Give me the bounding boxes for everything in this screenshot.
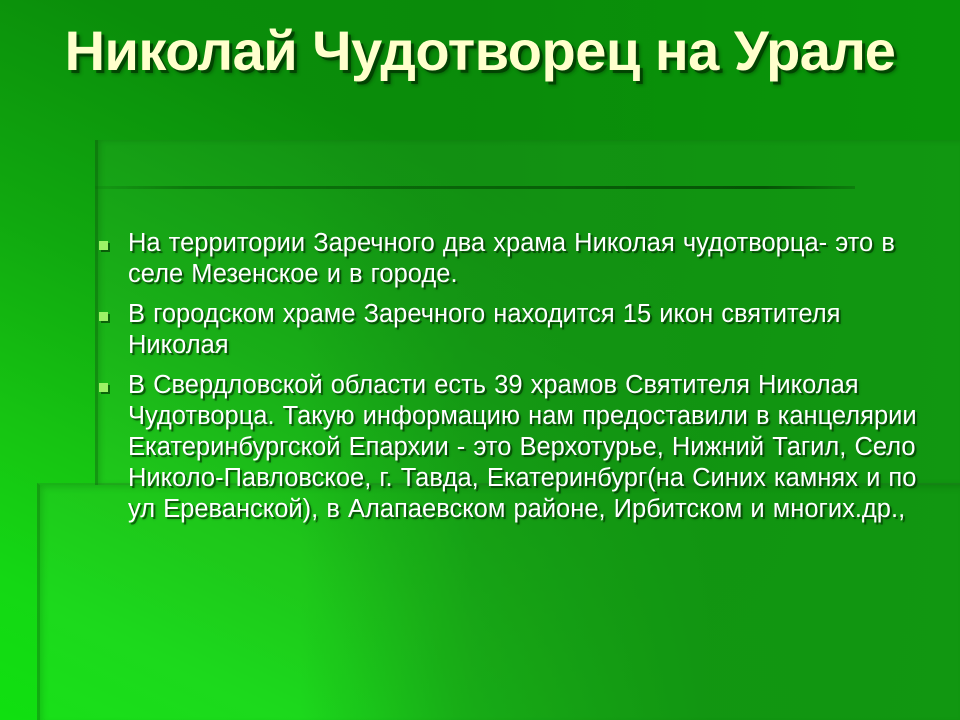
square-bullet-icon	[99, 312, 108, 321]
presentation-slide: Николай Чудотворец на Урале На территори…	[0, 0, 960, 720]
bullet-item-2: В городском храме Заречного находится 15…	[95, 299, 940, 361]
square-bullet-icon	[99, 241, 108, 250]
slide-bullet-list: На территории Заречного два храма Никола…	[95, 228, 940, 525]
title-divider	[95, 186, 855, 189]
bullet-item-2-text: В городском храме Заречного находится 15…	[128, 299, 940, 361]
bullet-item-3-text: В Свердловской области есть 39 храмов Св…	[128, 370, 940, 525]
square-bullet-icon	[99, 383, 108, 392]
slide-title: Николай Чудотворец на Урале	[60, 18, 900, 84]
bullet-item-3: В Свердловской области есть 39 храмов Св…	[95, 370, 940, 525]
bullet-item-1-text: На территории Заречного два храма Никола…	[128, 228, 940, 290]
bullet-item-1: На территории Заречного два храма Никола…	[95, 228, 940, 290]
slide-title-block: Николай Чудотворец на Урале	[60, 18, 900, 84]
